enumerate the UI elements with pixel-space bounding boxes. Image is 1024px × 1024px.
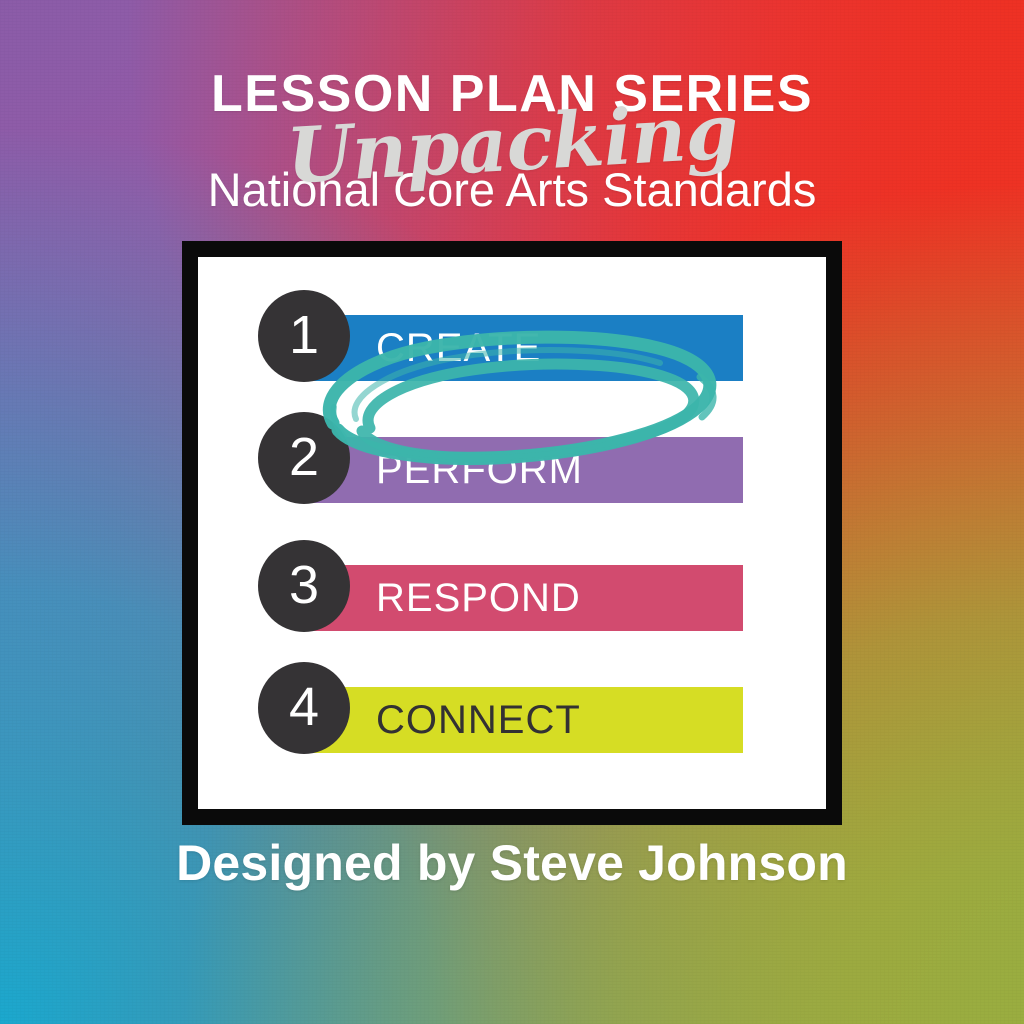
step-number-1: 1 — [289, 308, 319, 362]
designer-credit: Designed by Steve Johnson — [0, 838, 1024, 888]
step-bar-1: CREATE — [308, 315, 743, 381]
steps-list: CREATE 1 — [198, 257, 826, 809]
step-bar-4: CONNECT — [308, 687, 743, 753]
poster-footer: Designed by Steve Johnson — [0, 838, 1024, 888]
step-bar-2: PERFORM — [308, 437, 743, 503]
list-item-step-1[interactable]: CREATE 1 — [198, 315, 826, 381]
card-inner: CREATE 1 — [198, 257, 826, 809]
list-item-step-2[interactable]: PERFORM 2 — [198, 437, 826, 503]
step-badge-3: 3 — [258, 540, 350, 632]
step-label-3: RESPOND — [376, 578, 581, 618]
step-label-1: CREATE — [376, 328, 541, 368]
step-bar-3: RESPOND — [308, 565, 743, 631]
list-item-step-4[interactable]: CONNECT 4 — [198, 687, 826, 753]
framed-card: CREATE 1 — [182, 241, 842, 825]
step-label-4: CONNECT — [376, 700, 581, 740]
step-badge-2: 2 — [258, 412, 350, 504]
step-number-3: 3 — [289, 558, 319, 612]
poster-header: LESSON PLAN SERIES Unpacking National Co… — [0, 68, 1024, 213]
step-badge-1: 1 — [258, 290, 350, 382]
list-item-step-3[interactable]: RESPOND 3 — [198, 565, 826, 631]
step-number-4: 4 — [289, 680, 319, 734]
step-number-2: 2 — [289, 430, 319, 484]
poster-canvas: LESSON PLAN SERIES Unpacking National Co… — [0, 0, 1024, 1024]
step-label-2: PERFORM — [376, 450, 583, 490]
step-badge-4: 4 — [258, 662, 350, 754]
